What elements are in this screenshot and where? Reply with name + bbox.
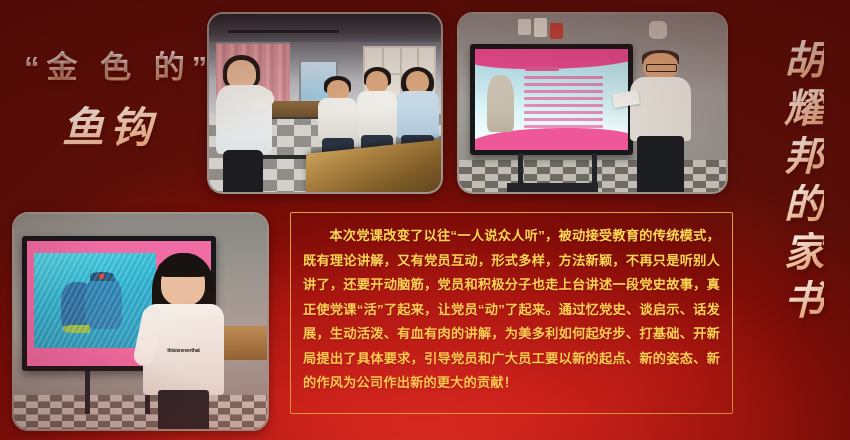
slide-text-lines xyxy=(524,76,603,120)
ceiling-track-light xyxy=(228,30,339,33)
slide-pink-top-shape xyxy=(475,49,628,69)
wall-decor-4 xyxy=(649,21,668,39)
red-star-icon xyxy=(99,274,104,279)
poster-root: “金 色 的” 鱼钩 xyxy=(0,0,850,440)
slide-monument-illustration xyxy=(487,75,515,131)
illustration-figure-1 xyxy=(61,282,95,330)
title-line-1: “金 色 的” xyxy=(24,42,214,87)
speaker-man xyxy=(630,53,691,192)
body-paragraph: 本次党课改变了以往“一人说众人听”，被动接受教育的传统模式，既有理论讲解，又有党… xyxy=(303,224,720,396)
wall-decor-2 xyxy=(534,18,547,38)
held-script-paper xyxy=(612,90,640,108)
photo-training-room-discussion[interactable] xyxy=(207,12,443,194)
wall-decor-1 xyxy=(518,19,531,35)
side-vertical-title: 胡 耀 邦 的 家 书 xyxy=(772,40,836,322)
photo-speaker-with-display[interactable] xyxy=(457,12,728,194)
display-stand xyxy=(85,371,151,414)
photo-3-content: thisisneverthat xyxy=(14,214,267,429)
photo-1-content xyxy=(209,14,441,192)
photo-2-content xyxy=(459,14,726,192)
body-text-panel: 本次党课改变了以往“一人说众人听”，被动接受教育的传统模式，既有理论讲解，又有党… xyxy=(290,212,733,414)
side-char-2: 耀 xyxy=(784,88,824,130)
display-screen xyxy=(475,49,628,149)
illustration-figure-2 xyxy=(85,274,122,329)
room-ceiling xyxy=(209,14,441,42)
main-title-block: “金 色 的” 鱼钩 xyxy=(0,26,200,176)
illustration-army-cap xyxy=(90,272,114,281)
side-char-6: 书 xyxy=(784,280,824,322)
side-char-3: 邦 xyxy=(784,136,824,178)
presenter-woman xyxy=(216,60,272,192)
slide-heading-bar xyxy=(525,67,559,71)
title-line-2: 鱼钩 xyxy=(62,94,158,155)
side-char-4: 的 xyxy=(784,184,824,226)
wall-decor-3 xyxy=(550,23,563,39)
tshirt-print-text: thisisneverthat xyxy=(156,348,212,354)
side-char-1: 胡 xyxy=(784,40,824,82)
glasses-icon xyxy=(646,64,677,72)
presentation-display xyxy=(470,44,633,154)
photo-student-with-illustration[interactable]: thisisneverthat xyxy=(12,212,269,431)
student-woman: thisisneverthat xyxy=(146,253,222,429)
side-char-5: 家 xyxy=(784,232,824,274)
illustration-straw-shoe xyxy=(63,325,90,333)
display-base xyxy=(507,183,598,192)
